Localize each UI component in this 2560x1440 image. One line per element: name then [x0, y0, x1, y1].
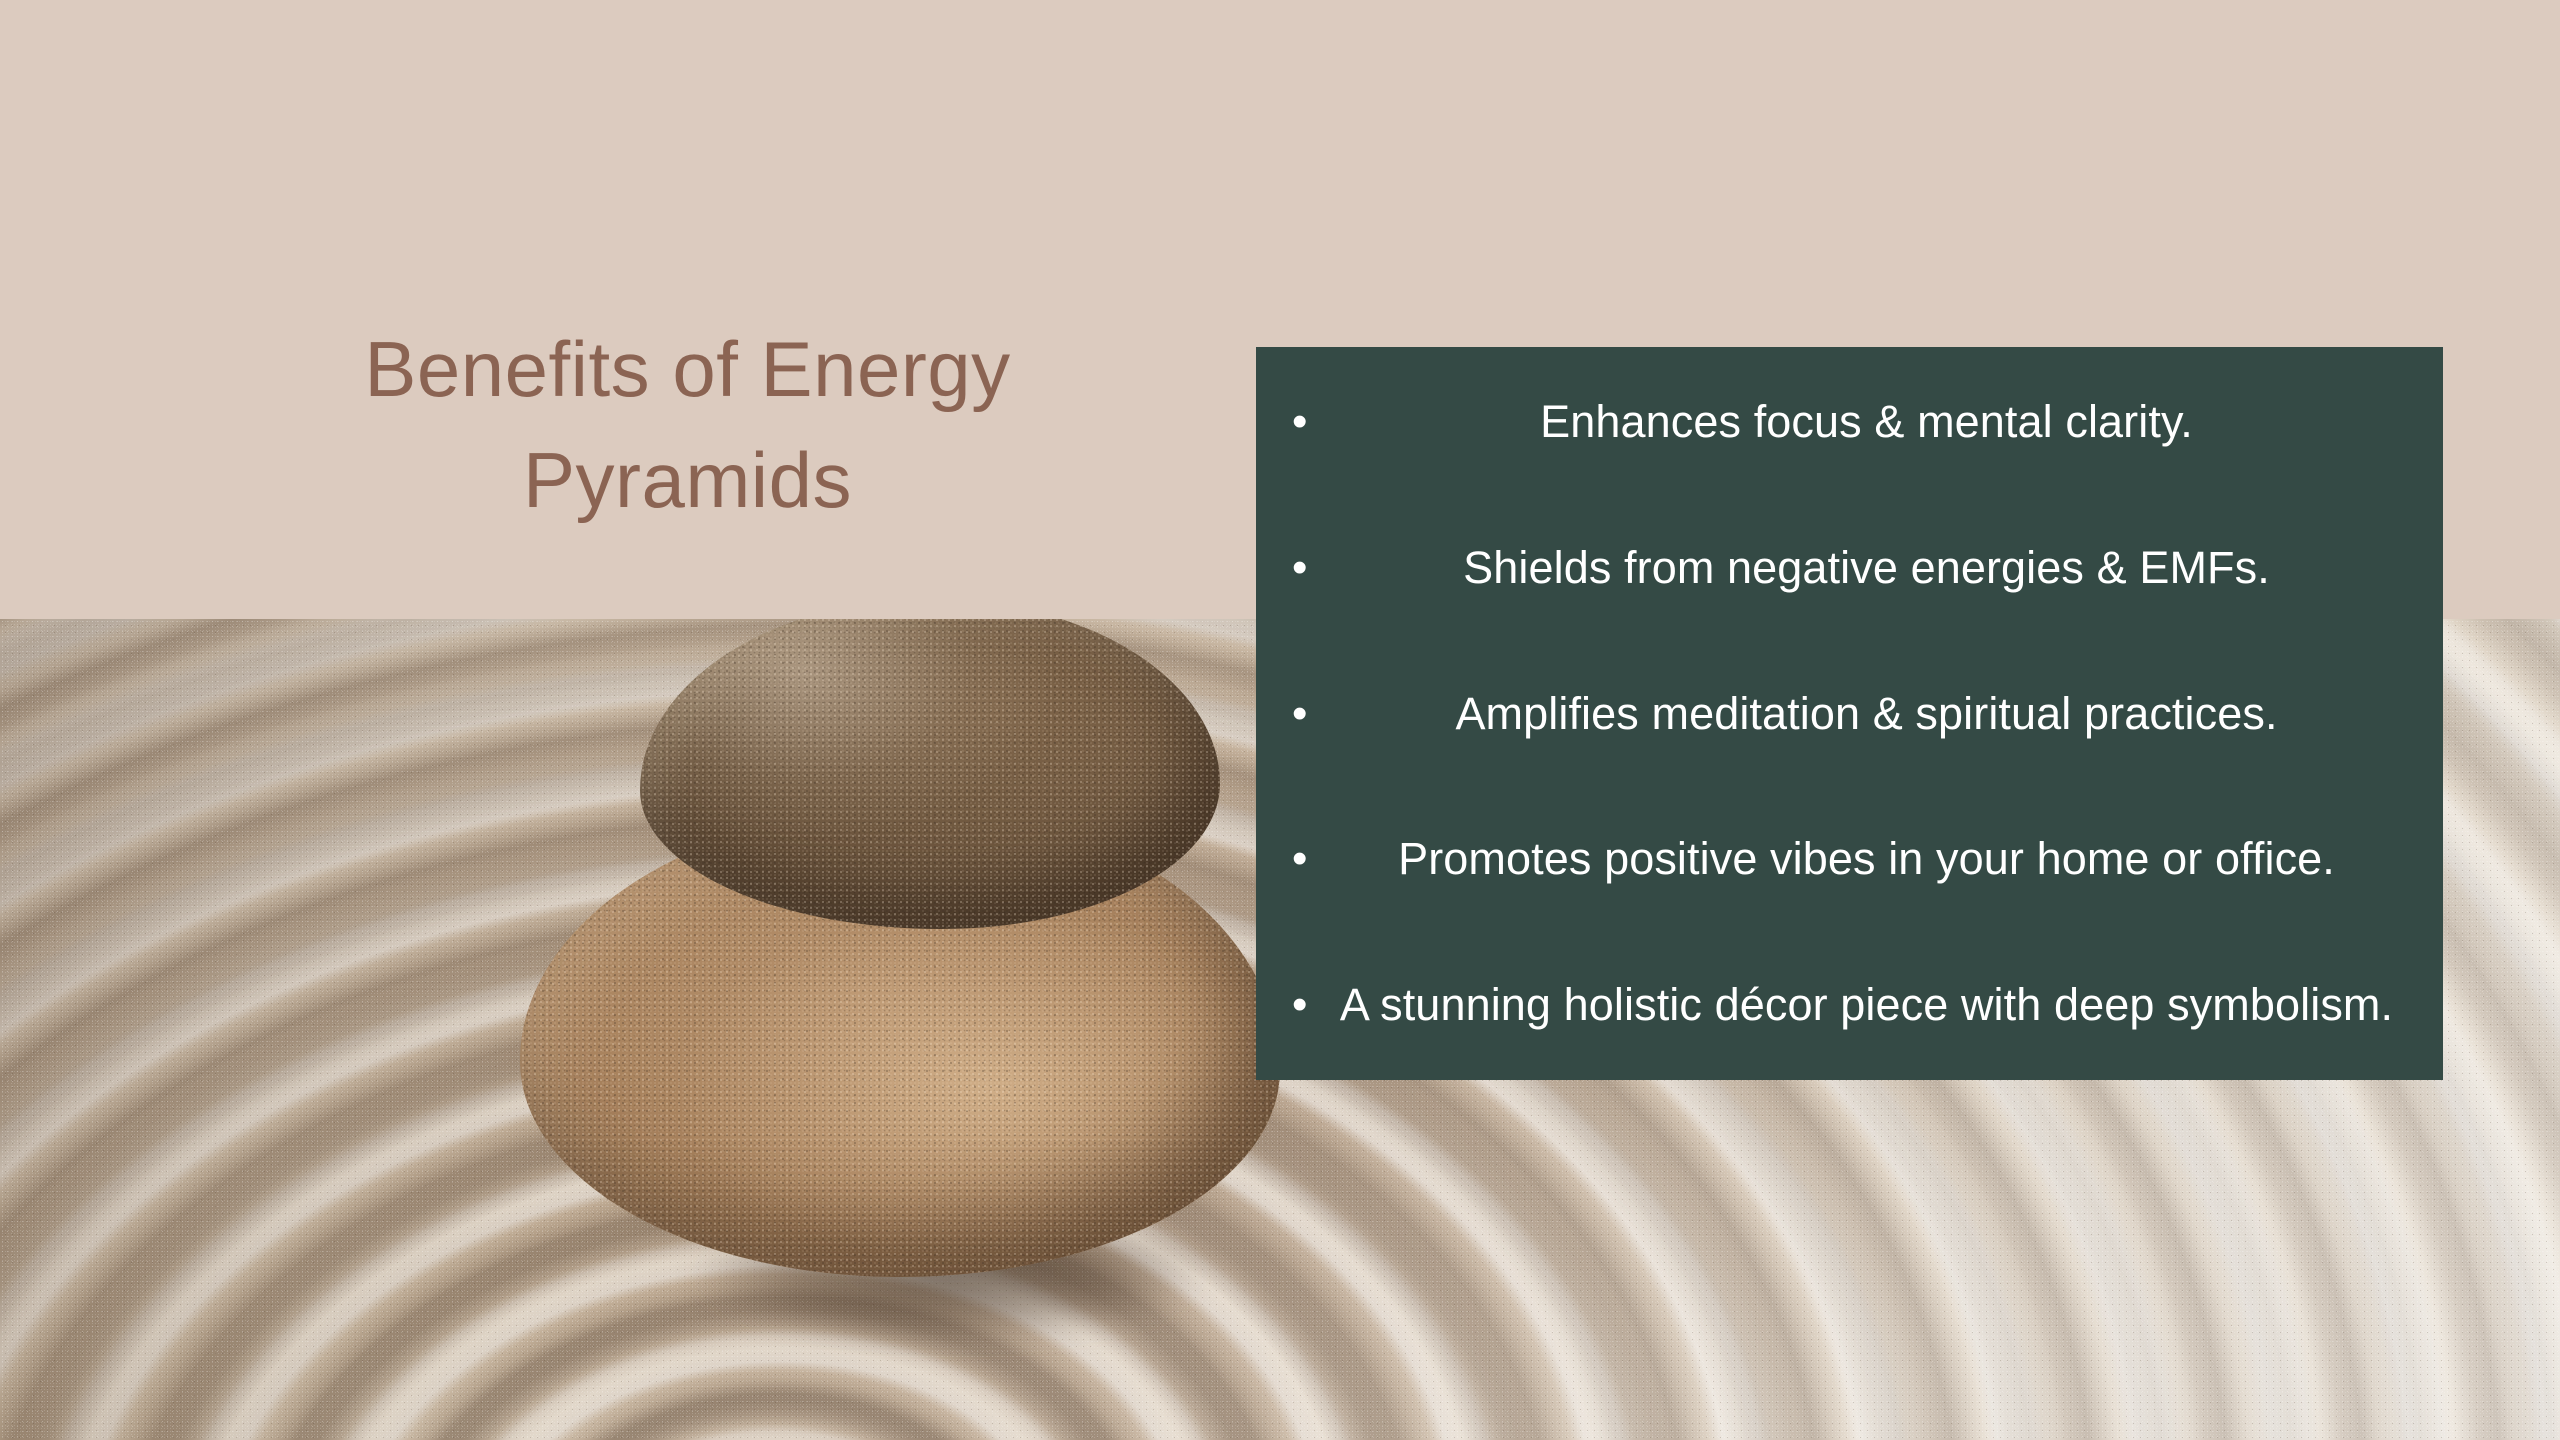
list-item: • Amplifies meditation & spiritual pract… [1256, 683, 2409, 745]
bullet-icon: • [1256, 391, 1330, 453]
list-item: • Shields from negative energies & EMFs. [1256, 537, 2409, 599]
list-item: • A stunning holistic décor piece with d… [1256, 974, 2409, 1036]
bullet-icon: • [1256, 974, 1330, 1036]
list-item-label: Promotes positive vibes in your home or … [1330, 828, 2409, 890]
bullet-icon: • [1256, 683, 1330, 745]
list-item-label: Amplifies meditation & spiritual practic… [1330, 683, 2409, 745]
stone-stack [520, 619, 1340, 1399]
list-item-label: Enhances focus & mental clarity. [1330, 391, 2409, 453]
bullet-icon: • [1256, 828, 1330, 890]
zen-stone-top [640, 619, 1220, 929]
list-item-label: A stunning holistic décor piece with dee… [1330, 974, 2409, 1036]
benefits-panel: • Enhances focus & mental clarity. • Shi… [1256, 347, 2443, 1080]
slide-canvas: Benefits of Energy Pyramids • Enhances f… [0, 0, 2560, 1440]
page-title: Benefits of Energy Pyramids [180, 314, 1195, 536]
stone-grain-texture [640, 619, 1220, 929]
bullet-icon: • [1256, 537, 1330, 599]
list-item: • Enhances focus & mental clarity. [1256, 391, 2409, 453]
list-item-label: Shields from negative energies & EMFs. [1330, 537, 2409, 599]
list-item: • Promotes positive vibes in your home o… [1256, 828, 2409, 890]
